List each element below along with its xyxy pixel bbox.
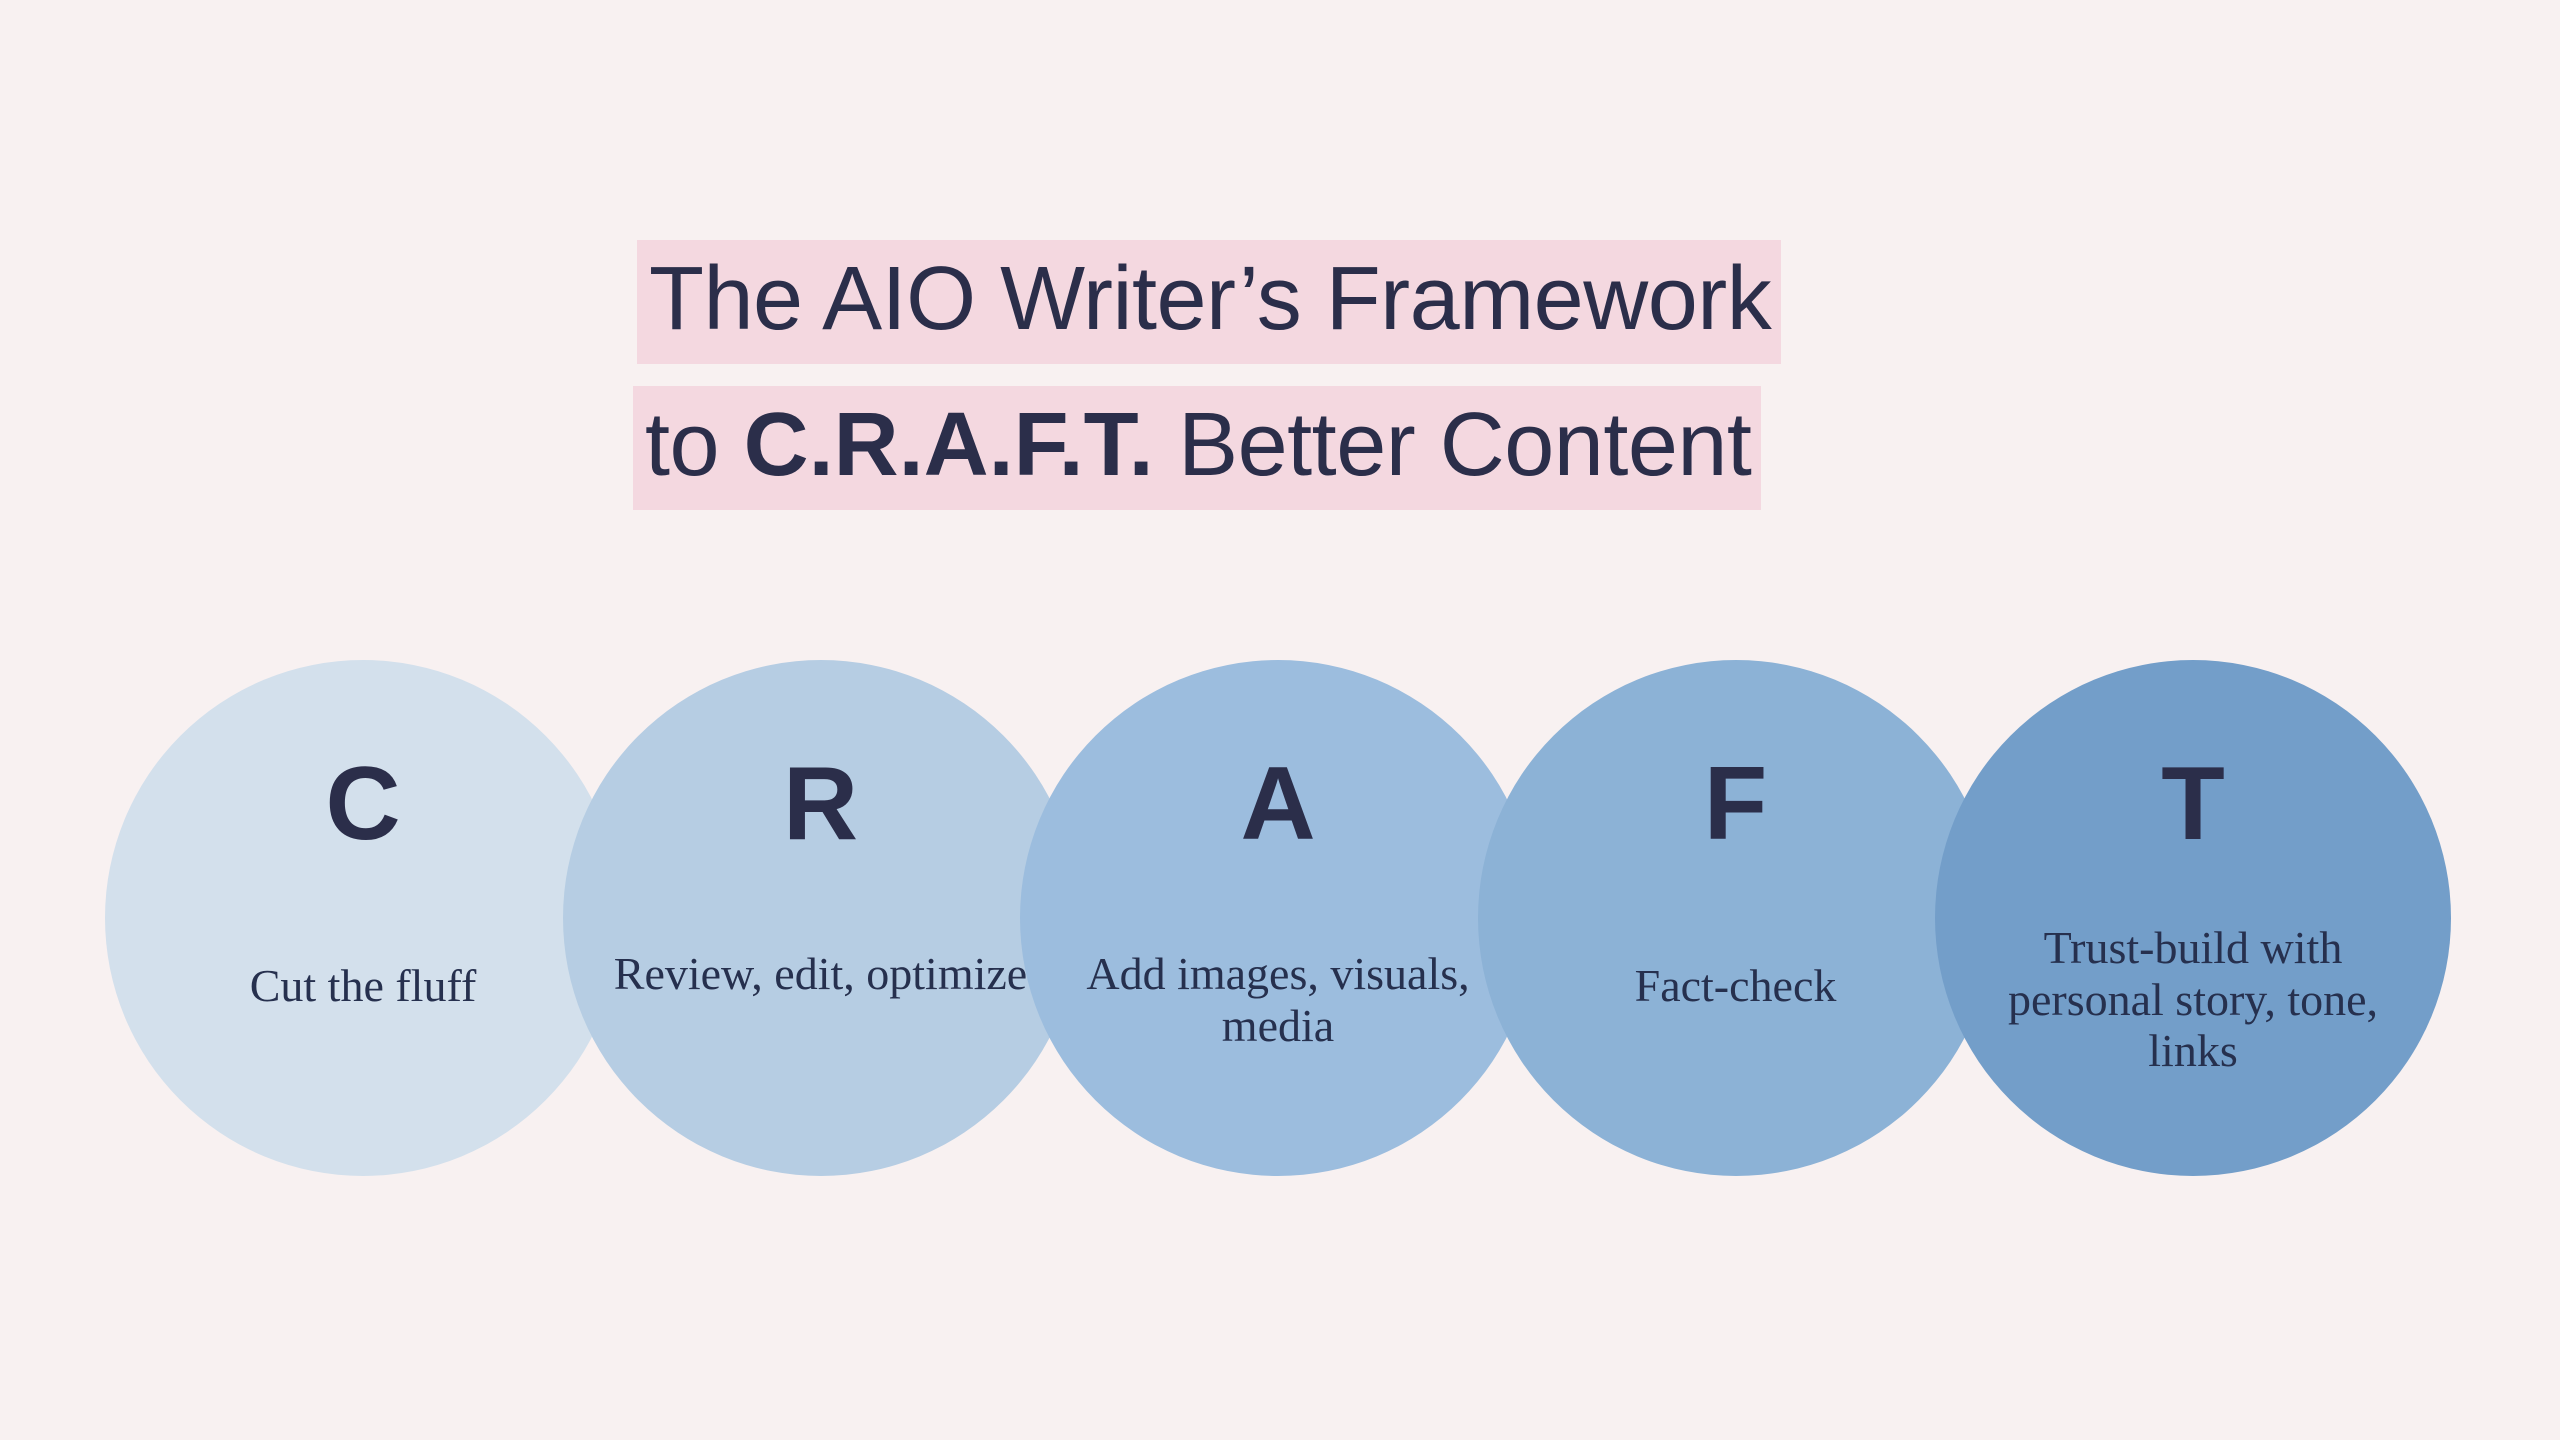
step-circle-f: F Fact-check <box>1478 660 1994 1176</box>
infographic-canvas: The AIO Writer’s Framework to C.R.A.F.T.… <box>0 0 2560 1440</box>
step-description-t: Trust-build with personal story, tone, l… <box>1978 922 2408 1077</box>
step-letter-a: A <box>1240 752 1315 856</box>
step-letter-r: R <box>783 752 858 856</box>
step-letter-t: T <box>2161 752 2225 856</box>
step-circle-t: T Trust-build with personal story, tone,… <box>1935 660 2451 1176</box>
step-circle-a: A Add images, visuals, media <box>1020 660 1536 1176</box>
step-description-c: Cut the fluff <box>148 960 578 1012</box>
craft-step-circles: C Cut the fluff R Review, edit, optimize… <box>0 0 2560 1440</box>
step-circle-c: C Cut the fluff <box>105 660 621 1176</box>
step-letter-f: F <box>1704 752 1768 856</box>
step-description-a: Add images, visuals, media <box>1063 948 1493 1051</box>
step-description-f: Fact-check <box>1521 960 1951 1012</box>
step-description-r: Review, edit, optimize <box>606 948 1036 1000</box>
step-circle-r: R Review, edit, optimize <box>563 660 1079 1176</box>
step-letter-c: C <box>325 752 400 856</box>
